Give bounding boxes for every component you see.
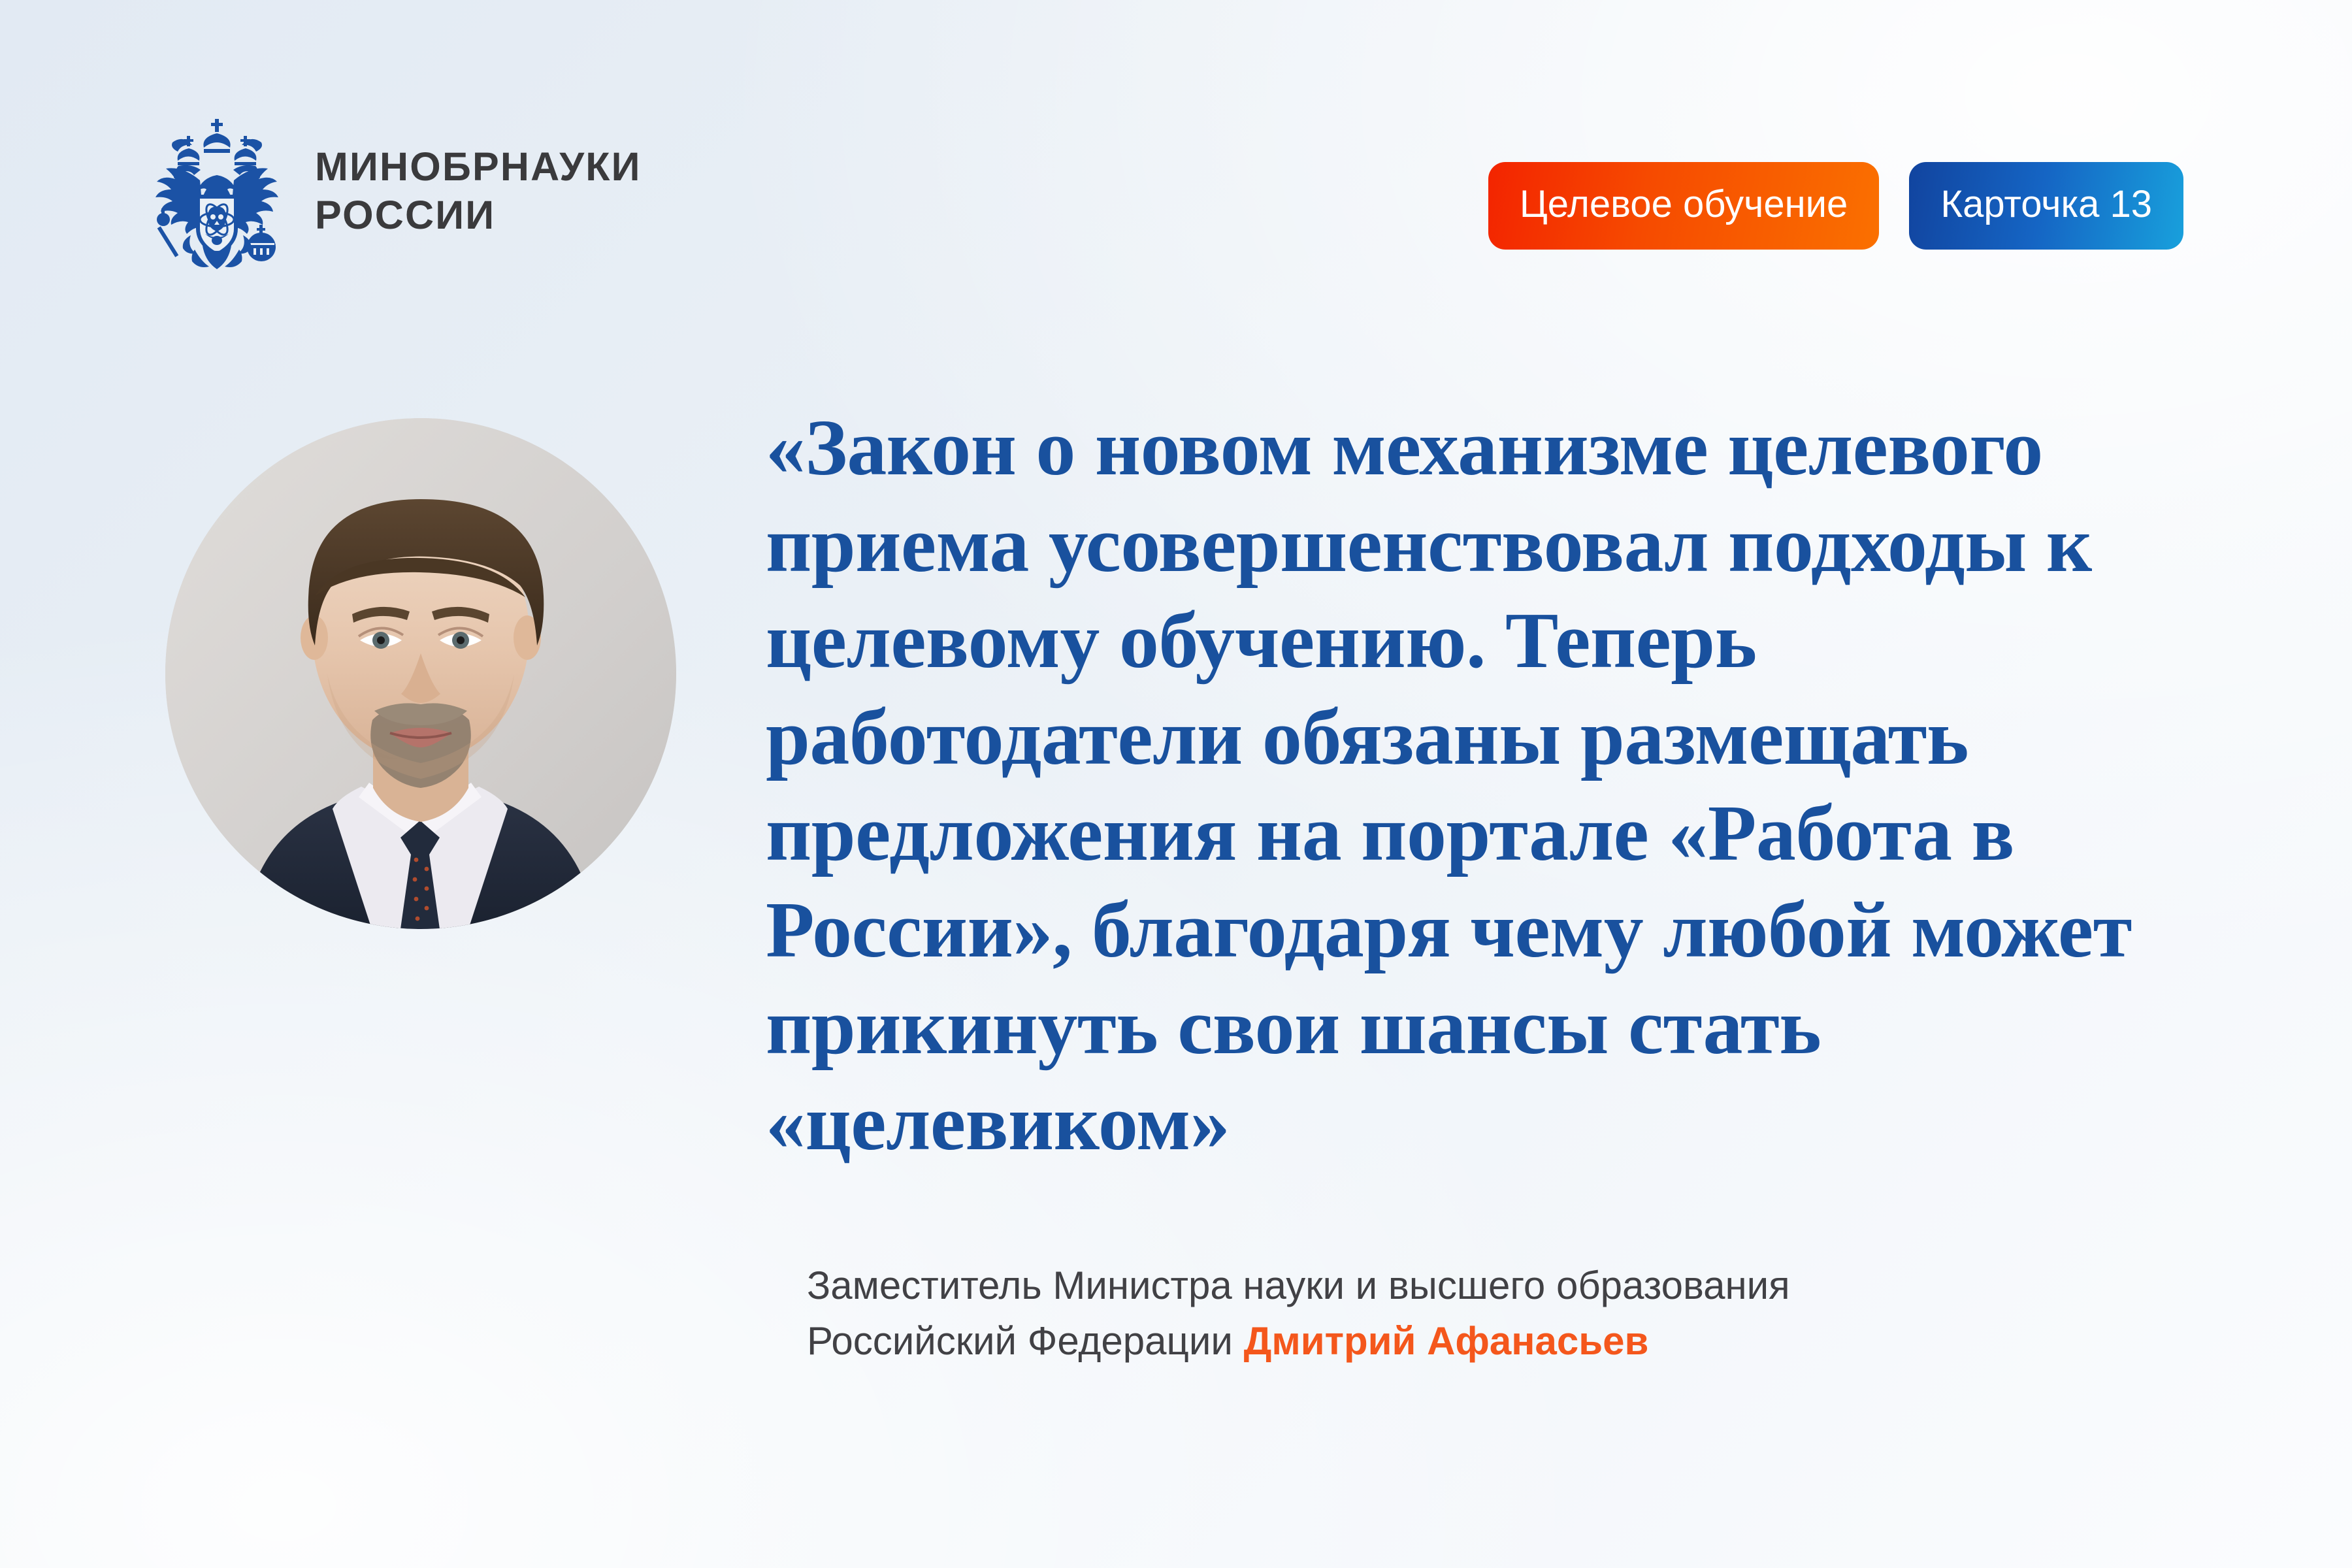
speaker-name: Дмитрий Афанасьев — [1244, 1319, 1649, 1363]
badge-group: Целевое обучение Карточка 13 — [1488, 162, 2183, 250]
russian-coat-of-arms-emblem — [149, 112, 285, 269]
card-canvas: МИНОБРНАУКИ РОССИИ Целевое обучение Карт… — [0, 0, 2352, 1568]
ministry-logo: МИНОБРНАУКИ РОССИИ — [149, 112, 642, 269]
attribution-line-2: Российский Федерации Дмитрий Афанасьев — [807, 1313, 2179, 1369]
speaker-portrait-avatar — [165, 418, 676, 929]
portrait-photo — [165, 418, 676, 929]
attribution-block: Заместитель Министра науки и высшего обр… — [807, 1258, 2179, 1369]
attribution-line-1: Заместитель Министра науки и высшего обр… — [807, 1258, 2179, 1313]
attribution-prefix: Российский Федерации — [807, 1319, 1244, 1363]
ministry-name: МИНОБРНАУКИ РОССИИ — [315, 142, 642, 240]
quote-text: «Закон о новом механизме целевого приема… — [766, 400, 2249, 1171]
badge-card-number[interactable]: Карточка 13 — [1909, 162, 2183, 250]
badge-topic[interactable]: Целевое обучение — [1488, 162, 1880, 250]
